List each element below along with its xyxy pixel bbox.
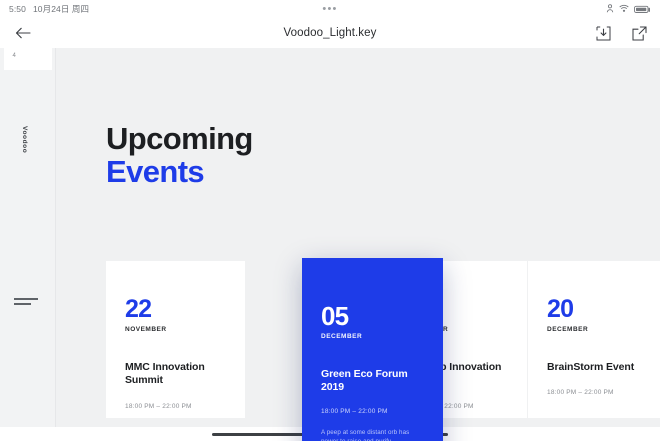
event-month: NOVEMBER <box>125 326 226 333</box>
event-title: BrainStorm Event <box>547 361 648 374</box>
event-time: 18:00 PM – 22:00 PM <box>321 408 424 415</box>
event-title: Green Eco Forum 2019 <box>321 368 424 395</box>
app-root: 5:50 10月24日 周四 ••• <box>0 0 660 441</box>
event-card[interactable]: 22 NOVEMBER MMC Innovation Summit 18:00 … <box>106 261 245 418</box>
placeholder-line-2 <box>14 303 31 305</box>
status-bar: 5:50 10月24日 周四 ••• <box>0 0 660 18</box>
event-card-row: 22 NOVEMBER MMC Innovation Summit 18:00 … <box>106 261 660 418</box>
event-day: 20 <box>547 297 648 322</box>
download-icon[interactable] <box>594 24 612 42</box>
event-month: DECEMBER <box>547 326 648 333</box>
slide-heading-line-1: Upcoming <box>106 122 253 155</box>
editor-content: 4 Voodoo 5 Upcoming Events 22 NOVEMBER M… <box>0 48 660 441</box>
toolbar-actions <box>594 24 648 42</box>
slide-thumbnail-current-label: Voodoo <box>21 126 28 153</box>
slide-number-previous: 4 <box>13 53 16 59</box>
event-time: 18:00 PM – 22:00 PM <box>125 403 226 410</box>
bluetooth-person-icon <box>606 0 614 18</box>
slide-thumbnail-previous[interactable]: 4 <box>4 48 52 70</box>
status-bar-right <box>606 0 651 18</box>
slide-thumbnail-text-placeholder <box>14 298 38 308</box>
event-card[interactable]: 20 DECEMBER BrainStorm Event 18:00 PM – … <box>528 261 660 418</box>
event-title: MMC Innovation Summit <box>125 361 226 388</box>
wifi-icon <box>619 0 629 18</box>
event-description: A peep at some distant orb has power to … <box>321 428 424 441</box>
app-toolbar: Voodoo_Light.key <box>0 18 660 48</box>
placeholder-line-1 <box>14 298 38 300</box>
share-external-icon[interactable] <box>630 24 648 42</box>
slide-canvas[interactable]: Upcoming Events 22 NOVEMBER MMC Innovati… <box>56 48 660 441</box>
slide-thumbnail-rail[interactable]: 4 Voodoo 5 <box>0 48 56 441</box>
document-title: Voodoo_Light.key <box>0 27 660 39</box>
more-options-icon[interactable]: ••• <box>322 6 337 12</box>
slide-heading-line-2: Events <box>106 155 253 188</box>
status-bar-left: 5:50 10月24日 周四 <box>9 3 89 15</box>
status-bar-center: ••• <box>0 0 660 18</box>
event-time: 18:00 PM – 22:00 PM <box>547 389 648 396</box>
status-clock: 5:50 <box>9 4 26 14</box>
event-card-featured[interactable]: 05 DECEMBER Green Eco Forum 2019 18:00 P… <box>302 258 443 441</box>
event-day: 22 <box>125 297 226 322</box>
slide-heading: Upcoming Events <box>106 122 253 189</box>
status-date: 10月24日 周四 <box>33 3 89 15</box>
battery-icon <box>634 5 651 14</box>
event-day: 05 <box>321 303 424 329</box>
event-month: DECEMBER <box>321 333 424 340</box>
